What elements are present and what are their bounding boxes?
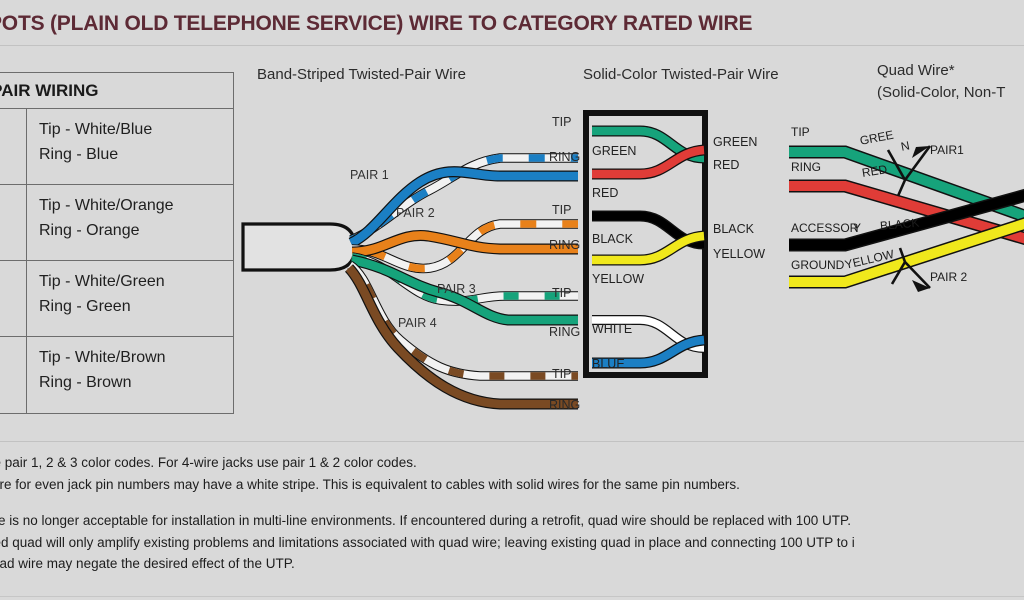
pair3-tip-label: TIP xyxy=(552,286,571,300)
solid-outer-label-black: BLACK xyxy=(713,222,754,236)
quad-terminal-ring: RING xyxy=(791,160,821,174)
solid-inner-label-yellow: YELLOW xyxy=(592,272,644,286)
solid-inner-label-blue: BLUE xyxy=(592,357,625,371)
pair2-ring-label: RING xyxy=(549,238,580,252)
pair1-tip-label: TIP xyxy=(552,115,571,129)
footnote-line-2: les, wire for even jack pin numbers may … xyxy=(0,474,1024,496)
page-bottom-divider xyxy=(0,596,1024,597)
pair2-tip-label: TIP xyxy=(552,203,571,217)
solid-inner-label-green: GREEN xyxy=(592,144,636,158)
footnote-line-3: ad wire is no longer acceptable for inst… xyxy=(0,510,1024,532)
solid-inner-label-red: RED xyxy=(592,186,618,200)
footnote-line-5: the quad wire may negate the desired eff… xyxy=(0,553,1024,575)
solid-inner-label-white: WHITE xyxy=(592,322,632,336)
footnote-line-1: ks use pair 1, 2 & 3 color codes. For 4-… xyxy=(0,452,1024,474)
pair1-ring-label: RING xyxy=(549,150,580,164)
pair3-ring-label: RING xyxy=(549,325,580,339)
quad-terminal-accessory-y: Y xyxy=(853,221,861,235)
pair4-label: PAIR 4 xyxy=(398,316,437,330)
footnote-line-4: nstalled quad will only amplify existing… xyxy=(0,532,1024,554)
quad-terminal-accessory: ACCESSOR xyxy=(791,221,858,235)
solid-outer-label-red: RED xyxy=(713,158,739,172)
quad-terminal-tip: TIP xyxy=(791,125,810,139)
pair4-ring-label: RING xyxy=(549,398,580,412)
cable-jacket xyxy=(243,224,355,270)
footnote-spacer xyxy=(0,496,1024,510)
diagram-page: POTS (PLAIN OLD TELEPHONE SERVICE) WIRE … xyxy=(0,0,1024,600)
pair4-tip-label: TIP xyxy=(552,367,571,381)
pair3-label: PAIR 3 xyxy=(437,282,476,296)
notes-divider xyxy=(0,441,1024,442)
solid-outer-label-green: GREEN xyxy=(713,135,757,149)
pair1-label: PAIR 1 xyxy=(350,168,389,182)
quad-pair1-label: PAIR1 xyxy=(930,143,964,157)
footnotes: ks use pair 1, 2 & 3 color codes. For 4-… xyxy=(0,452,1024,575)
pair1-ring-outline xyxy=(351,172,578,243)
solid-outer-label-yellow: YELLOW xyxy=(713,247,765,261)
pair2-label: PAIR 2 xyxy=(396,206,435,220)
quad-terminal-ground: GROUND xyxy=(791,258,844,272)
solid-inner-label-black: BLACK xyxy=(592,232,633,246)
quad-pair2-label: PAIR 2 xyxy=(930,270,967,284)
